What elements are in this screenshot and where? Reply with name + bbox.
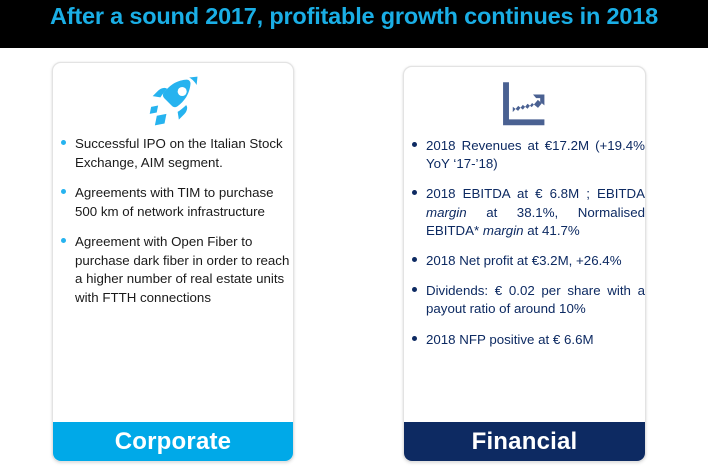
rocket-icon-container	[53, 63, 293, 135]
financial-footer-label: Financial	[404, 422, 645, 461]
card-financial: 2018 Revenues at €17.2M (+19.4% YoY ‘17-…	[403, 66, 646, 462]
bullet-text: 2018 NFP positive at € 6.6M	[426, 331, 645, 349]
slide-title-bar: After a sound 2017, profitable growth co…	[0, 0, 708, 48]
growth-chart-icon	[498, 80, 552, 130]
bullet-dot-icon	[412, 287, 417, 292]
card-corporate: Successful IPO on the Italian Stock Exch…	[52, 62, 294, 462]
growth-chart-icon-container	[404, 67, 645, 137]
bullet-dot-icon	[412, 257, 417, 262]
bullet-text: Successful IPO on the Italian Stock Exch…	[75, 135, 293, 172]
rocket-icon	[145, 74, 201, 130]
list-item: Dividends: € 0.02 per share with a payou…	[404, 282, 645, 318]
footer-label-text: Corporate	[115, 428, 231, 456]
bullet-text: 2018 EBITDA at € 6.8M ; EBITDA margin at…	[426, 185, 645, 240]
list-item: Agreement with Open Fiber to purchase da…	[53, 233, 293, 307]
financial-bullet-list: 2018 Revenues at €17.2M (+19.4% YoY ‘17-…	[404, 137, 645, 349]
bullet-text: Dividends: € 0.02 per share with a payou…	[426, 282, 645, 318]
bullet-text: Agreement with Open Fiber to purchase da…	[75, 233, 293, 307]
bullet-text: Agreements with TIM to purchase 500 km o…	[75, 184, 293, 221]
bullet-dot-icon	[61, 189, 66, 194]
bullet-dot-icon	[412, 336, 417, 341]
page-title: After a sound 2017, profitable growth co…	[50, 1, 658, 31]
footer-label-text: Financial	[472, 428, 578, 456]
list-item: 2018 NFP positive at € 6.6M	[404, 331, 645, 349]
corporate-bullet-list: Successful IPO on the Italian Stock Exch…	[53, 135, 293, 307]
list-item: 2018 EBITDA at € 6.8M ; EBITDA margin at…	[404, 185, 645, 240]
bullet-dot-icon	[412, 142, 417, 147]
bullet-dot-icon	[412, 190, 417, 195]
bullet-dot-icon	[61, 238, 66, 243]
list-item: 2018 Revenues at €17.2M (+19.4% YoY ‘17-…	[404, 137, 645, 173]
list-item: Agreements with TIM to purchase 500 km o…	[53, 184, 293, 221]
list-item: Successful IPO on the Italian Stock Exch…	[53, 135, 293, 172]
corporate-footer-label: Corporate	[53, 422, 293, 461]
bullet-text: 2018 Revenues at €17.2M (+19.4% YoY ‘17-…	[426, 137, 645, 173]
bullet-dot-icon	[61, 140, 66, 145]
bullet-text: 2018 Net profit at €3.2M, +26.4%	[426, 252, 645, 270]
rocket-window-icon	[178, 87, 187, 96]
list-item: 2018 Net profit at €3.2M, +26.4%	[404, 252, 645, 270]
